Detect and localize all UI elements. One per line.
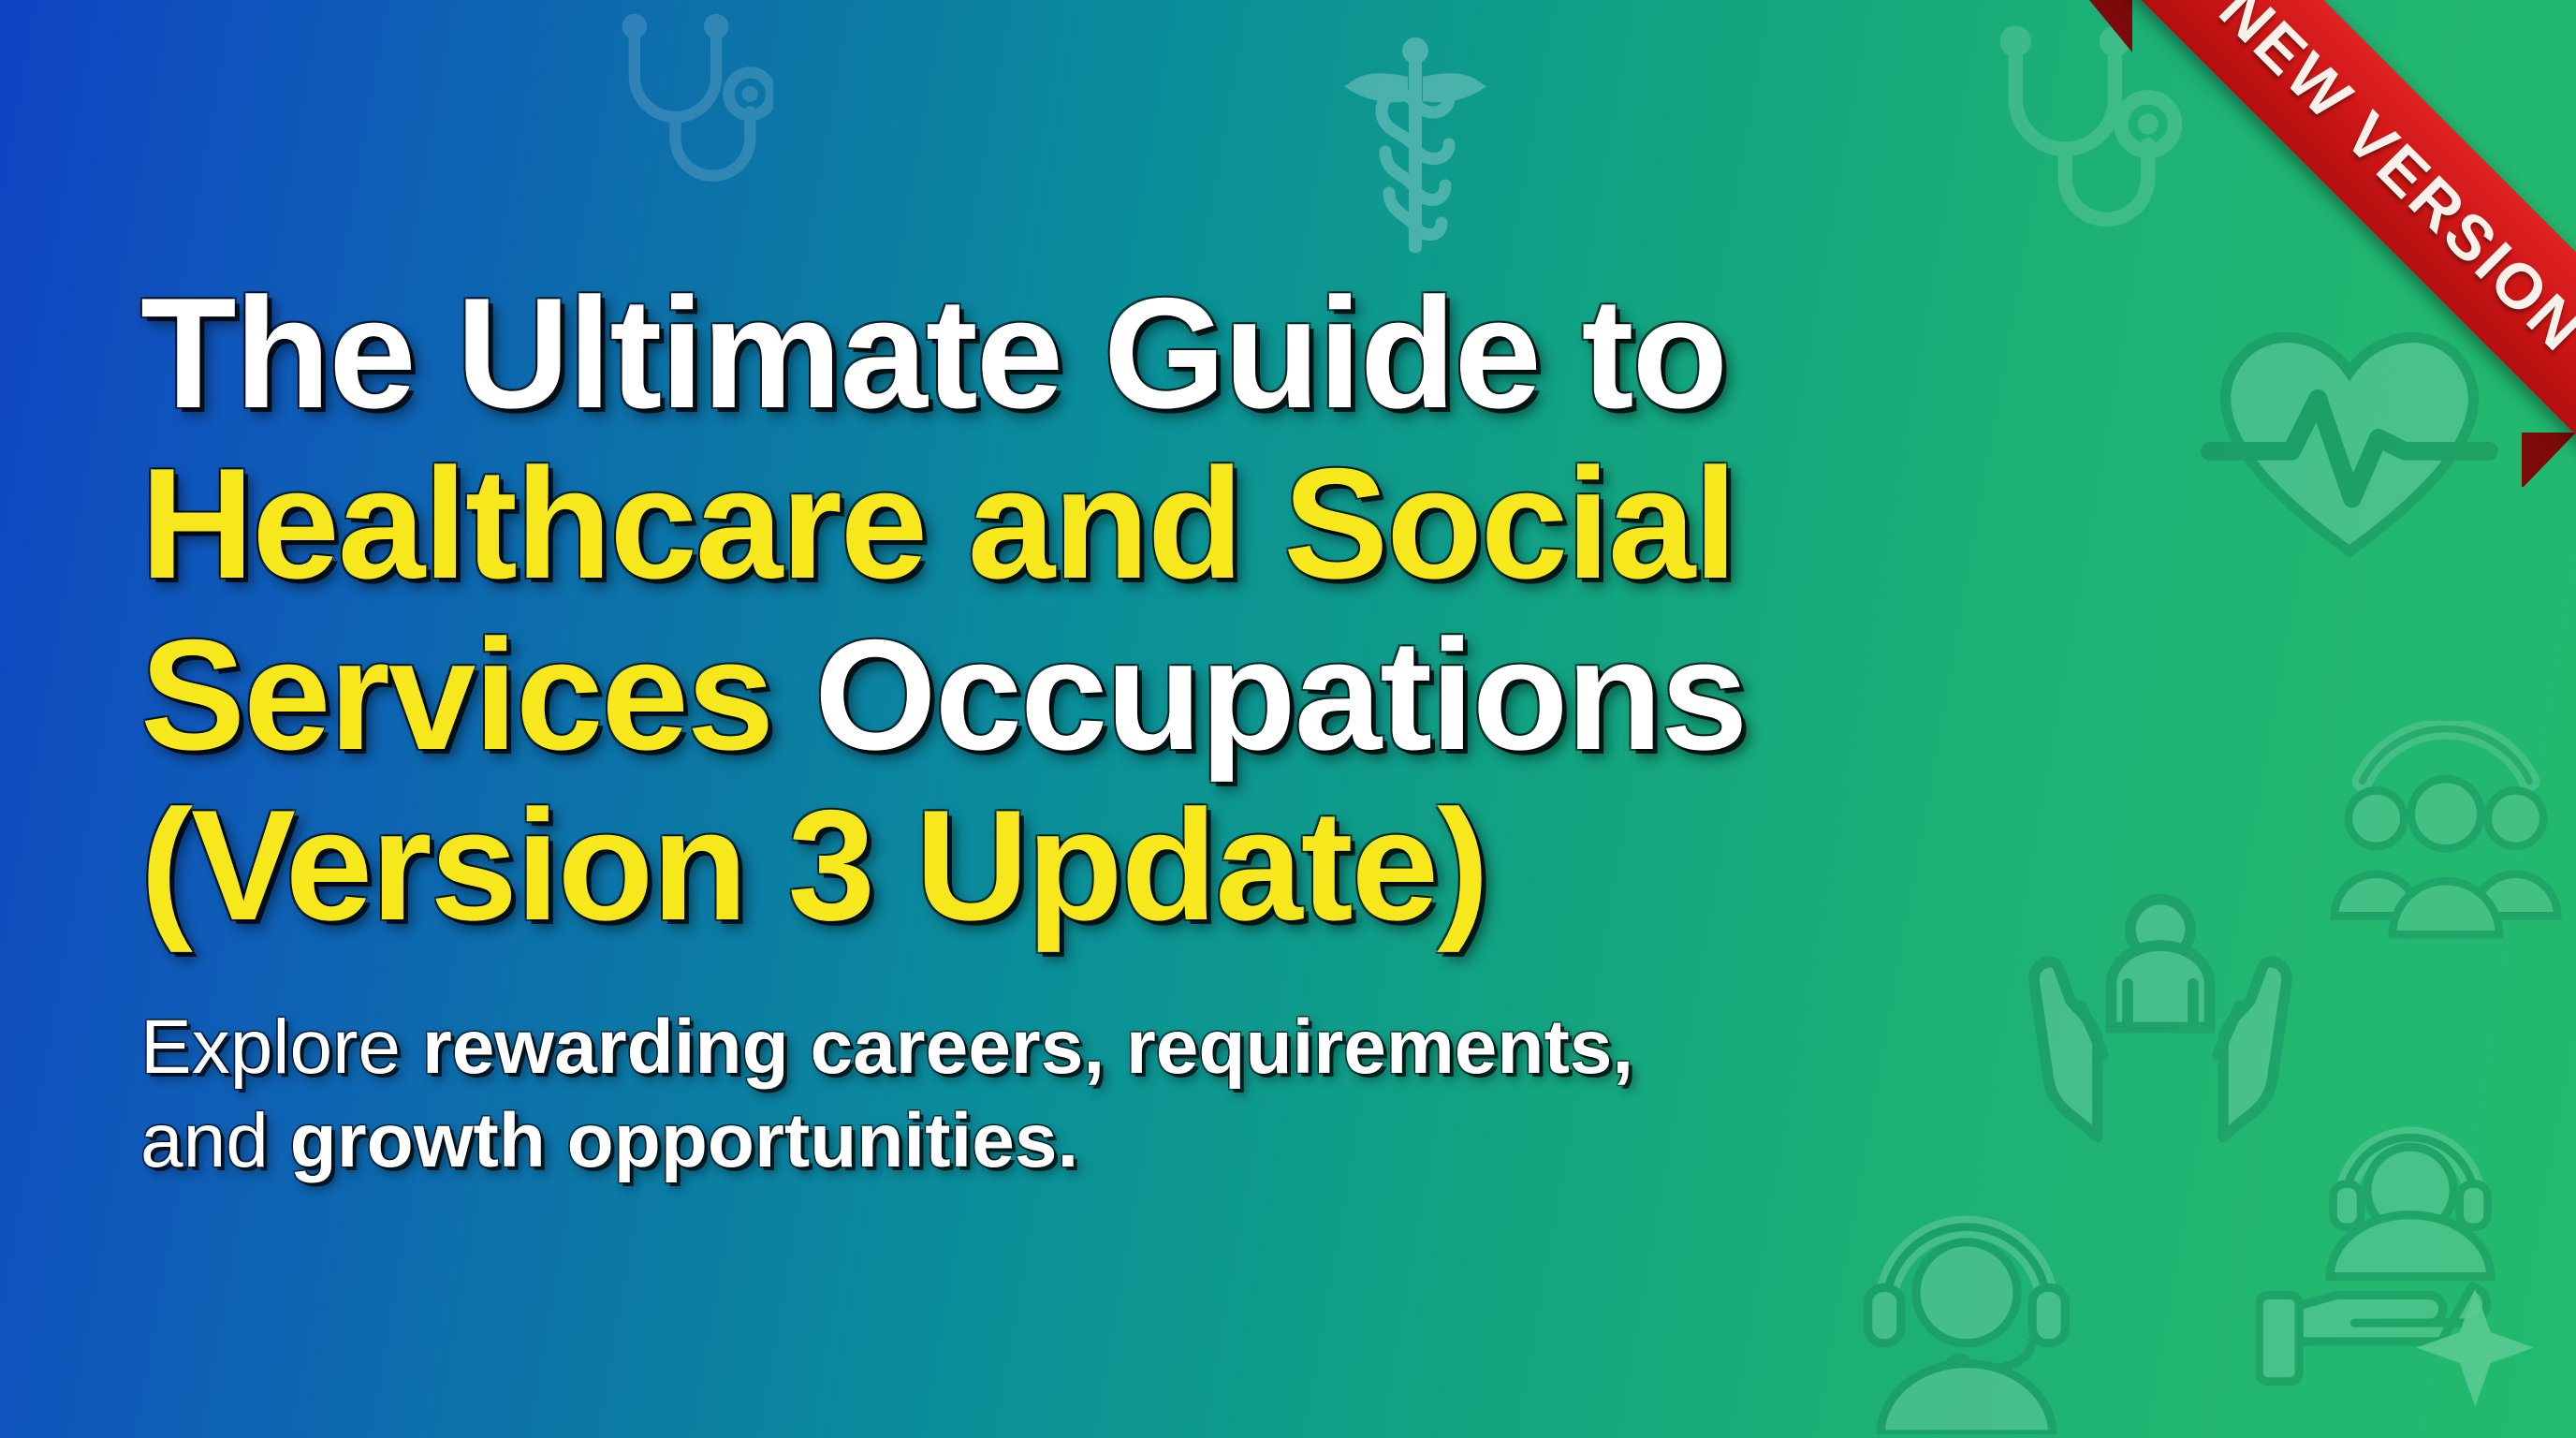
- title-line-4: (Version 3 Update): [140, 780, 2293, 950]
- headset-support-agent-icon: [1840, 1181, 2093, 1434]
- title-line-2-text: Healthcare and Social: [140, 435, 1735, 611]
- caduceus-icon: [1340, 28, 1490, 262]
- subtitle-line-2-bold: growth opportunities.: [290, 1098, 1079, 1183]
- subtitle-line-1: Explore rewarding careers, requirements,: [140, 1001, 2293, 1094]
- stethoscope-icon: [595, 7, 773, 195]
- ribbon-fold-top: [2089, 0, 2132, 52]
- subtitle-line-2: and growth opportunities.: [140, 1094, 2293, 1188]
- subtitle-line-1-regular: Explore: [140, 1005, 422, 1090]
- title-line-3-text: Occupations: [814, 607, 1747, 783]
- subtitle: Explore rewarding careers, requirements,…: [140, 1001, 2293, 1188]
- banner-content: The Ultimate Guide to Healthcare and Soc…: [140, 268, 2293, 1188]
- promo-banner: NEW VERSION The Ultimate Guide to Health…: [0, 0, 2576, 1438]
- title-line-1-text: The Ultimate Guide to: [140, 265, 1726, 441]
- subtitle-line-2-regular: and: [140, 1098, 290, 1183]
- title-line-1: The Ultimate Guide to: [140, 268, 2293, 438]
- title-line-2: Healthcare and Social: [140, 438, 2293, 609]
- group-people-icon: [2329, 721, 2563, 953]
- hand-service-sparkle-icon: [2256, 1116, 2565, 1425]
- subtitle-line-1-bold: rewarding careers, requirements,: [422, 1005, 1633, 1090]
- stethoscope-icon: [1971, 21, 2192, 236]
- title-line-4-text: (Version 3 Update): [140, 777, 1487, 953]
- title-line-3-highlight: Services: [140, 607, 814, 783]
- ribbon-fold-bottom: [2522, 433, 2576, 487]
- title-line-3: Services Occupations: [140, 609, 2293, 780]
